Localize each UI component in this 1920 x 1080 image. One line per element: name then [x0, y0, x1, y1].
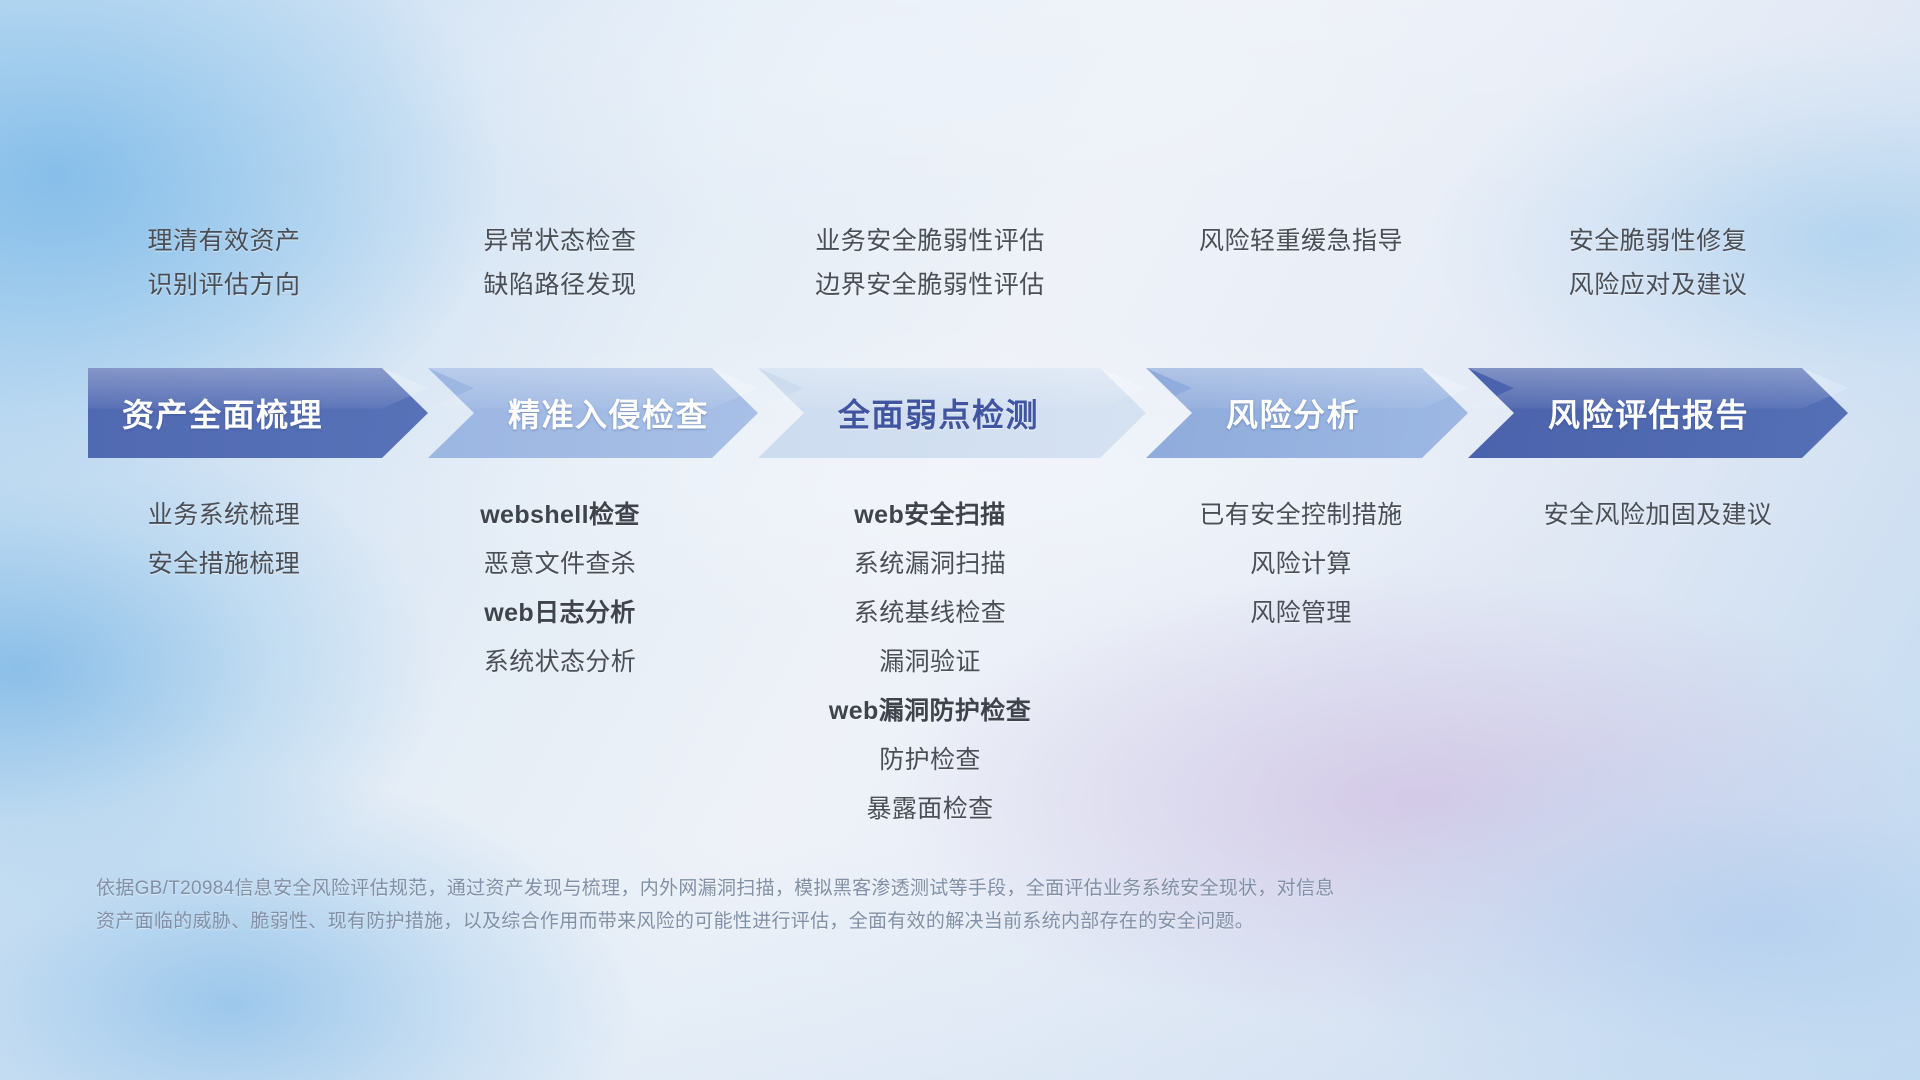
stage-outcomes-row: 理清有效资产识别评估方向异常状态检查缺陷路径发现业务安全脆弱性评估边界安全脆弱性… [88, 226, 1848, 336]
outcome-item: 异常状态检查 [483, 226, 636, 256]
stage-activities-weakness-detection: web安全扫描系统漏洞扫描系统基线检查漏洞验证web漏洞防护检查防护检查暴露面检… [829, 500, 1031, 824]
activity-item: 安全措施梳理 [148, 549, 300, 579]
stage-activities-intrusion-check: webshell检查恶意文件查杀web日志分析系统状态分析 [480, 500, 640, 677]
activity-item: web安全扫描 [854, 500, 1005, 530]
footer-line-1: 依据GB/T20984信息安全风险评估规范，通过资产发现与梳理，内外网漏洞扫描，… [96, 872, 1636, 905]
process-step-label: 资产全面梳理 [122, 390, 323, 436]
process-step-intrusion-check[interactable]: 精准入侵检查 [428, 368, 758, 458]
outcome-item: 业务安全脆弱性评估 [815, 226, 1045, 256]
outcome-item: 风险轻重缓急指导 [1199, 226, 1403, 256]
activity-item: 业务系统梳理 [148, 500, 300, 530]
outcome-item: 理清有效资产 [147, 226, 300, 256]
outcome-item: 缺陷路径发现 [483, 270, 636, 300]
activity-item: web漏洞防护检查 [829, 696, 1031, 726]
outcome-item: 边界安全脆弱性评估 [815, 270, 1045, 300]
stage-activities-asset-inventory: 业务系统梳理安全措施梳理 [148, 500, 300, 579]
stage-activities-assessment-report: 安全风险加固及建议 [1544, 500, 1773, 530]
activity-item: 已有安全控制措施 [1199, 500, 1402, 530]
stage-outcomes-weakness-detection: 业务安全脆弱性评估边界安全脆弱性评估 [815, 226, 1045, 300]
activity-item: 暴露面检查 [866, 794, 993, 824]
process-step-assessment-report[interactable]: 风险评估报告 [1468, 368, 1848, 458]
stage-outcomes-asset-inventory: 理清有效资产识别评估方向 [147, 226, 300, 300]
activity-item: web日志分析 [484, 598, 635, 628]
outcome-item: 识别评估方向 [147, 270, 300, 300]
stage-outcomes-risk-analysis: 风险轻重缓急指导 [1199, 226, 1403, 256]
stage-activities-risk-analysis: 已有安全控制措施风险计算风险管理 [1199, 500, 1402, 628]
process-diagram: 理清有效资产识别评估方向异常状态检查缺陷路径发现业务安全脆弱性评估边界安全脆弱性… [0, 0, 1920, 1080]
process-step-label: 风险评估报告 [1548, 390, 1749, 436]
process-step-label: 全面弱点检测 [838, 390, 1039, 436]
footer-line-2: 资产面临的威胁、脆弱性、现有防护措施，以及综合作用而带来风险的可能性进行评估，全… [96, 905, 1636, 938]
activity-item: 系统基线检查 [854, 598, 1006, 628]
process-chevron-band: 资产全面梳理精准入侵检查全面弱点检测风险分析风险评估报告 [88, 368, 1848, 458]
footer-description: 依据GB/T20984信息安全风险评估规范，通过资产发现与梳理，内外网漏洞扫描，… [96, 872, 1636, 938]
process-step-weakness-detection[interactable]: 全面弱点检测 [758, 368, 1146, 458]
activity-item: 风险计算 [1250, 549, 1352, 579]
activity-item: 系统状态分析 [484, 647, 636, 677]
activity-item: 系统漏洞扫描 [854, 549, 1006, 579]
process-step-label: 风险分析 [1226, 390, 1360, 436]
process-step-asset-inventory[interactable]: 资产全面梳理 [88, 368, 428, 458]
outcome-item: 风险应对及建议 [1569, 270, 1748, 300]
process-step-label: 精准入侵检查 [508, 390, 709, 436]
stage-outcomes-assessment-report: 安全脆弱性修复风险应对及建议 [1569, 226, 1748, 300]
activity-item: 安全风险加固及建议 [1544, 500, 1773, 530]
stage-outcomes-intrusion-check: 异常状态检查缺陷路径发现 [483, 226, 636, 300]
activity-item: 漏洞验证 [879, 647, 981, 677]
activity-item: 防护检查 [879, 745, 981, 775]
activity-item: 风险管理 [1250, 598, 1352, 628]
outcome-item: 安全脆弱性修复 [1569, 226, 1748, 256]
activity-item: webshell检查 [480, 500, 640, 530]
activity-item: 恶意文件查杀 [484, 549, 636, 579]
process-step-risk-analysis[interactable]: 风险分析 [1146, 368, 1468, 458]
